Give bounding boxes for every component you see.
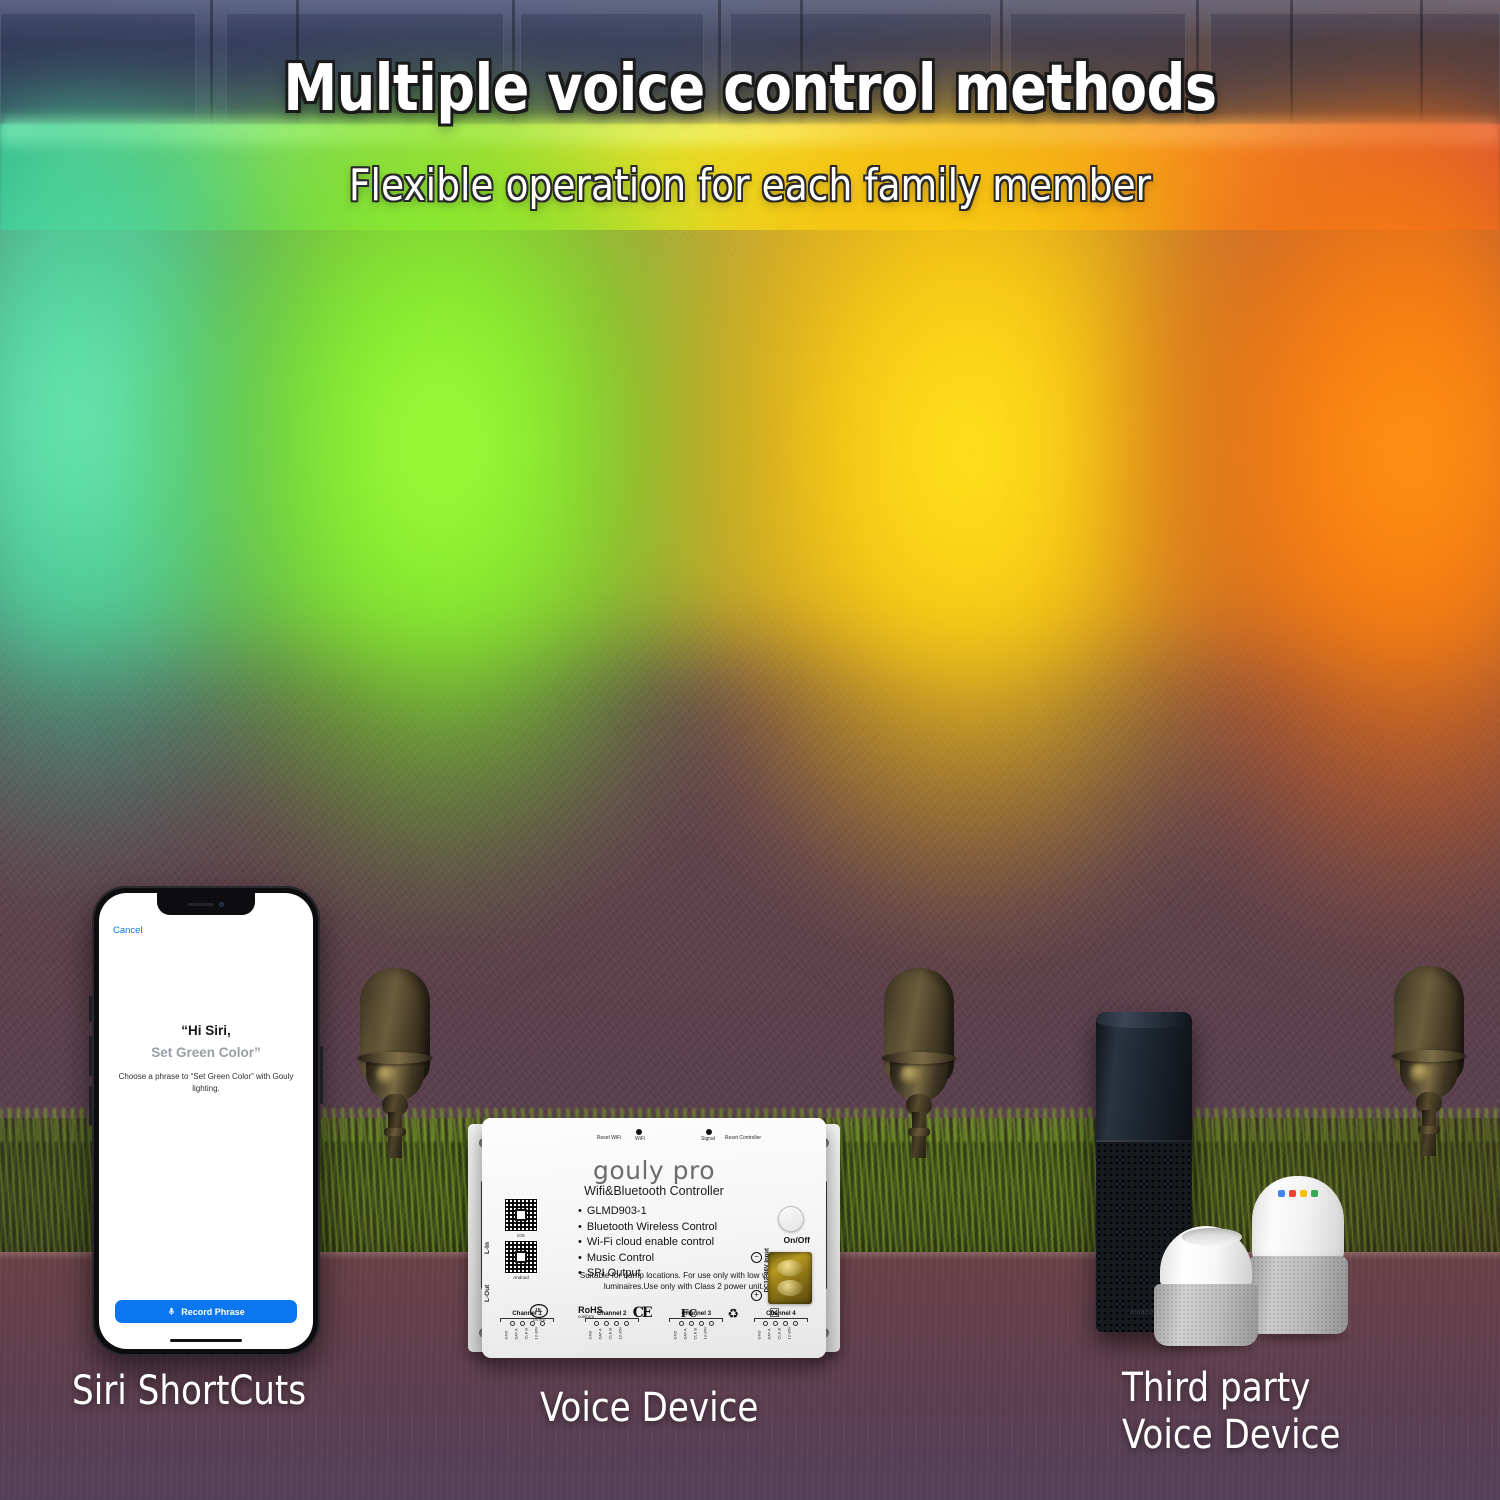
siri-phrase-line-2: Set Green Color” xyxy=(99,1045,313,1060)
channel-label: Channel 2 xyxy=(581,1310,643,1317)
phone-notch xyxy=(157,893,255,915)
record-phrase-button[interactable]: Record Phrase xyxy=(115,1300,297,1323)
pin-label: 12-36V xyxy=(702,1335,720,1340)
pin-label: 12-36V xyxy=(787,1335,805,1340)
qr-code-ios: iOS xyxy=(504,1198,538,1238)
channel-block[interactable]: Channel 3 GND DAT A CLK B 12-36V xyxy=(665,1310,727,1356)
channel-label: Channel 1 xyxy=(496,1310,558,1317)
iphone-device: Cancel “Hi Siri, Set Green Color” Choose… xyxy=(92,886,320,1356)
signal-label: Signal xyxy=(692,1137,724,1143)
product-subtitle: Wifi&Bluetooth Controller xyxy=(482,1184,826,1198)
list-item: GLMD903-1 xyxy=(578,1204,798,1220)
pin-label: 12-36V xyxy=(618,1335,636,1340)
channel-label: Channel 3 xyxy=(665,1310,727,1317)
pin-label: 12-36V xyxy=(533,1335,551,1340)
google-home-top[interactable] xyxy=(1252,1176,1344,1262)
caption-third-party-line-2: Voice Device xyxy=(1122,1412,1340,1459)
phone-volume-up-button[interactable] xyxy=(89,1036,92,1076)
caption-siri-shortcuts: Siri ShortCuts xyxy=(72,1368,306,1414)
channel-block[interactable]: Channel 4 GND DAT A CLK B 12-36V xyxy=(750,1310,812,1356)
garden-spotlight xyxy=(1386,966,1472,1156)
line-in-label: L-In xyxy=(484,1242,491,1254)
negative-terminal-icon: − xyxy=(751,1252,762,1263)
siri-description: Choose a phrase to “Set Green Color” wit… xyxy=(117,1071,295,1094)
channel-block[interactable]: Channel 1 GND DAT A CLK B 12-36V xyxy=(496,1310,558,1356)
reset-wifi-label: Reset WiFi xyxy=(592,1136,626,1142)
caption-third-party-voice-device: Third party Voice Device xyxy=(1122,1365,1340,1459)
signal-led-icon xyxy=(706,1129,712,1135)
onoff-button[interactable] xyxy=(778,1206,804,1232)
microphone-icon xyxy=(167,1307,176,1316)
google-assistant-dots-icon xyxy=(1278,1190,1318,1197)
caption-voice-device: Voice Device xyxy=(540,1385,758,1431)
brand-name: gouly pro xyxy=(482,1156,826,1185)
wifi-label: WiFi xyxy=(626,1137,654,1143)
garden-spotlight xyxy=(352,968,438,1158)
gouly-pro-controller: Reset WiFi WiFi Signal Reset Controller … xyxy=(468,1118,840,1358)
channel-block[interactable]: Channel 2 GND DAT A CLK B 12-36V xyxy=(581,1310,643,1356)
home-indicator[interactable] xyxy=(170,1339,242,1342)
qr-code-android: Android xyxy=(504,1240,538,1280)
google-home-speaker xyxy=(1248,1176,1348,1336)
dc-power-terminal[interactable] xyxy=(768,1252,812,1304)
siri-phrase-line-1: “Hi Siri, xyxy=(99,1023,313,1038)
product-marketing-image: Multiple voice control methods Flexible … xyxy=(0,0,1500,1500)
phone-volume-down-button[interactable] xyxy=(89,1086,92,1126)
qr-android-label: Android xyxy=(504,1275,538,1280)
phone-power-button[interactable] xyxy=(320,1046,323,1104)
phone-mute-switch[interactable] xyxy=(89,996,92,1022)
led-indicator-row: Reset WiFi WiFi Signal Reset Controller xyxy=(594,1126,754,1152)
line-out-label: L-Out xyxy=(484,1285,491,1302)
channel-label: Channel 4 xyxy=(750,1310,812,1317)
google-home-mini-top[interactable] xyxy=(1160,1226,1252,1288)
onoff-label: On/Off xyxy=(784,1235,810,1245)
google-home-mini-fabric-base xyxy=(1154,1284,1258,1346)
garden-spotlight xyxy=(876,968,962,1158)
caption-third-party-line-1: Third party xyxy=(1122,1365,1340,1412)
echo-top-ring[interactable] xyxy=(1096,1012,1192,1028)
qr-ios-label: iOS xyxy=(504,1233,538,1238)
controller-enclosure: Reset WiFi WiFi Signal Reset Controller … xyxy=(482,1118,826,1358)
reset-controller-label: Reset Controller xyxy=(722,1136,764,1142)
front-camera-icon xyxy=(219,902,224,907)
earpiece-speaker xyxy=(188,903,214,906)
cancel-button[interactable]: Cancel xyxy=(113,925,143,936)
google-home-fabric-base xyxy=(1248,1256,1348,1334)
phone-screen: Cancel “Hi Siri, Set Green Color” Choose… xyxy=(99,893,313,1349)
list-item: Bluetooth Wireless Control xyxy=(578,1220,798,1236)
google-home-mini-speaker xyxy=(1154,1226,1258,1346)
page-subheadline: Flexible operation for each family membe… xyxy=(38,160,1463,211)
page-headline: Multiple voice control methods xyxy=(45,52,1455,126)
channel-terminal-row: Channel 1 GND DAT A CLK B 12-36V Channel… xyxy=(496,1310,812,1356)
wifi-led-icon xyxy=(636,1129,642,1135)
record-phrase-label: Record Phrase xyxy=(181,1307,245,1317)
